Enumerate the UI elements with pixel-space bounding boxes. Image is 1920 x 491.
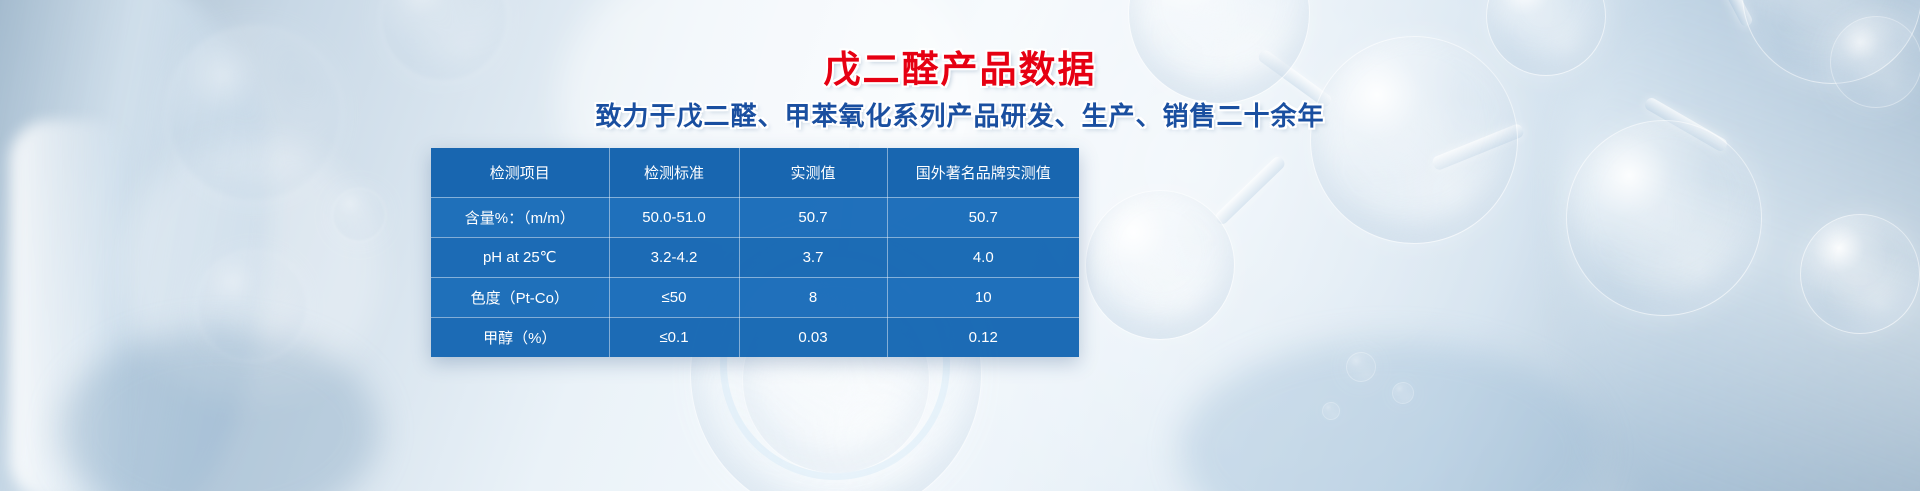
cell-item: 含量%：（m/m） bbox=[431, 197, 609, 237]
column-header-measured: 实测值 bbox=[739, 148, 887, 197]
molecule-sphere-small-3 bbox=[1322, 402, 1340, 420]
cell-measured: 50.7 bbox=[739, 197, 887, 237]
cell-standard: 3.2-4.2 bbox=[609, 237, 739, 277]
cell-foreign: 50.7 bbox=[887, 197, 1079, 237]
cell-item: pH at 25℃ bbox=[431, 237, 609, 277]
spec-table: 检测项目 检测标准 实测值 国外著名品牌实测值 含量%：（m/m） 50.0-5… bbox=[431, 148, 1079, 357]
cell-standard: ≤50 bbox=[609, 277, 739, 317]
column-header-foreign: 国外著名品牌实测值 bbox=[887, 148, 1079, 197]
cell-measured: 3.7 bbox=[739, 237, 887, 277]
page-title: 戊二醛产品数据 bbox=[0, 48, 1920, 92]
spec-table-head: 检测项目 检测标准 实测值 国外著名品牌实测值 bbox=[431, 148, 1079, 197]
cell-standard: 50.0-51.0 bbox=[609, 197, 739, 237]
cell-measured: 0.03 bbox=[739, 317, 887, 357]
table-row: 甲醇（%） ≤0.1 0.03 0.12 bbox=[431, 317, 1079, 357]
column-header-standard: 检测标准 bbox=[609, 148, 739, 197]
cell-standard: ≤0.1 bbox=[609, 317, 739, 357]
spec-table-body: 含量%：（m/m） 50.0-51.0 50.7 50.7 pH at 25℃ … bbox=[431, 197, 1079, 357]
soft-shadow-bottom-left bbox=[60, 330, 380, 491]
cell-item: 色度（Pt-Co） bbox=[431, 277, 609, 317]
table-row: 含量%：（m/m） 50.0-51.0 50.7 50.7 bbox=[431, 197, 1079, 237]
molecule-sphere-small-1 bbox=[1346, 352, 1376, 382]
cell-foreign: 4.0 bbox=[887, 237, 1079, 277]
table-row: pH at 25℃ 3.2-4.2 3.7 4.0 bbox=[431, 237, 1079, 277]
blurred-glass-tube-left bbox=[10, 120, 130, 491]
page-subtitle: 致力于戊二醛、甲苯氧化系列产品研发、生产、销售二十余年 bbox=[0, 101, 1920, 132]
bubble-center-small bbox=[332, 188, 386, 242]
soft-shadow-bottom-right bbox=[1180, 340, 1600, 491]
cell-foreign: 10 bbox=[887, 277, 1079, 317]
cell-foreign: 0.12 bbox=[887, 317, 1079, 357]
spec-table-container: 检测项目 检测标准 实测值 国外著名品牌实测值 含量%：（m/m） 50.0-5… bbox=[431, 148, 1079, 357]
cell-measured: 8 bbox=[739, 277, 887, 317]
molecule-sphere-7 bbox=[1800, 214, 1920, 334]
spec-table-header-row: 检测项目 检测标准 实测值 国外著名品牌实测值 bbox=[431, 148, 1079, 197]
table-row: 色度（Pt-Co） ≤50 8 10 bbox=[431, 277, 1079, 317]
soft-glow-left bbox=[120, 140, 380, 400]
molecule-sphere-5 bbox=[1566, 120, 1762, 316]
column-header-item: 检测项目 bbox=[431, 148, 609, 197]
molecule-bond-5 bbox=[1706, 0, 1754, 28]
banner-heading-block: 戊二醛产品数据 致力于戊二醛、甲苯氧化系列产品研发、生产、销售二十余年 bbox=[0, 48, 1920, 132]
molecule-sphere-2 bbox=[1085, 190, 1235, 340]
cell-item: 甲醇（%） bbox=[431, 317, 609, 357]
molecule-sphere-small-2 bbox=[1392, 382, 1414, 404]
product-data-banner: 戊二醛产品数据 致力于戊二醛、甲苯氧化系列产品研发、生产、销售二十余年 检测项目… bbox=[0, 0, 1920, 491]
bubble-left-2 bbox=[196, 250, 308, 362]
molecule-bond-2 bbox=[1213, 155, 1287, 227]
